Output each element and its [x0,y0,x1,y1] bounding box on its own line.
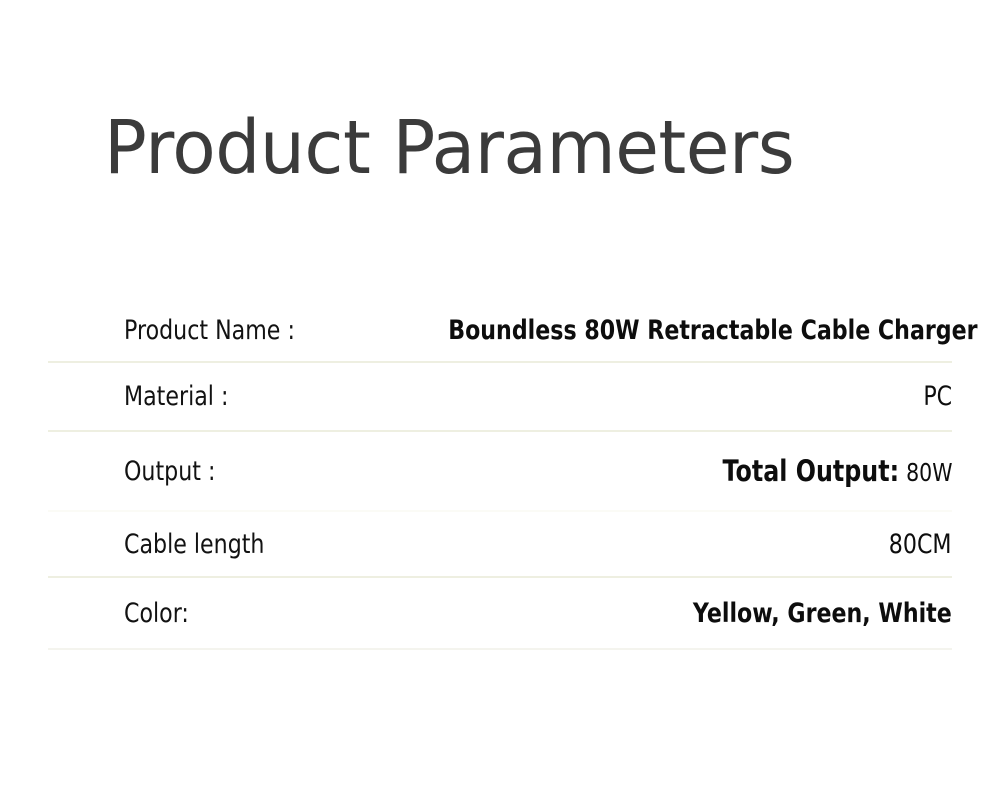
product-parameters-page: Product Parameters Product Name : Boundl… [0,0,1000,788]
spec-value-color: Yellow, Green, White [693,598,952,629]
spec-value-output-main: Total Output: [722,454,899,488]
spec-value-output: Total Output: 80W [722,454,952,488]
table-row: Color: Yellow, Green, White [48,578,962,648]
spec-label-color: Color: [124,598,189,629]
spec-label-product-name: Product Name : [124,315,295,346]
table-row: Output : Total Output: 80W [48,432,962,510]
page-title: Product Parameters [104,104,794,192]
spec-label-material: Material : [124,381,228,412]
table-row: Product Name : Boundless 80W Retractable… [48,300,962,361]
spec-value-material: PC [923,381,952,412]
table-row: Material : PC [48,363,962,430]
spec-label-cable-length: Cable length [124,529,264,560]
spec-value-product-name: Boundless 80W Retractable Cable Charger [449,315,978,346]
spec-value-output-wattage: 80W [906,458,952,487]
spec-value-cable-length: 80CM [889,529,952,560]
row-divider [48,648,952,650]
specification-table: Product Name : Boundless 80W Retractable… [48,300,962,650]
table-row: Cable length 80CM [48,512,962,576]
spec-label-output: Output : [124,456,215,487]
